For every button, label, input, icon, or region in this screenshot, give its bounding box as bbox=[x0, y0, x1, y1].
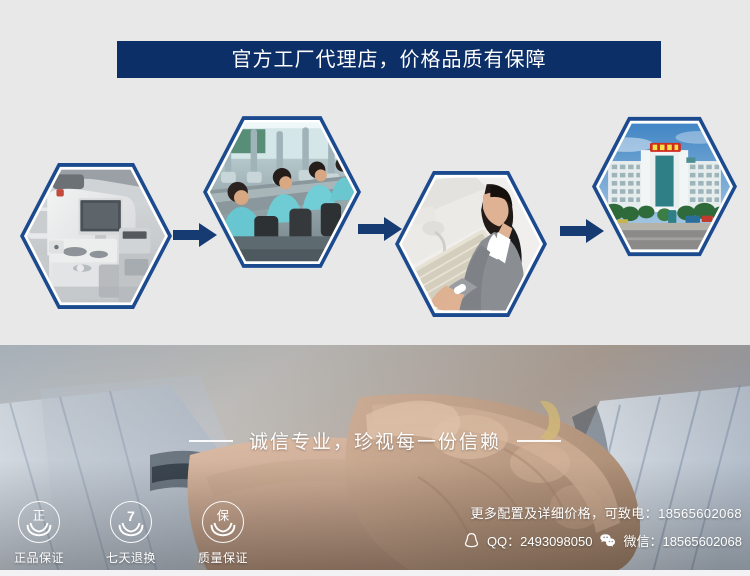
hex-inner-frame bbox=[596, 118, 733, 255]
arrow-right-icon-1 bbox=[173, 222, 217, 248]
tagline-rule-right bbox=[517, 440, 561, 442]
trust-banner-section: 诚信专业，珍视每一份信赖 正 正品保证 7 bbox=[0, 345, 750, 576]
arrow-right-icon-2 bbox=[358, 216, 402, 242]
process-step-2 bbox=[203, 113, 361, 271]
process-section: 官方工厂代理店，价格品质有保障 bbox=[0, 0, 750, 345]
process-step-4 bbox=[592, 114, 737, 259]
process-step-1 bbox=[20, 160, 172, 312]
badge-authentic: 正 正品保证 bbox=[6, 501, 72, 566]
qq-label: QQ：2493098050 bbox=[487, 531, 593, 550]
factory-equipment-photo bbox=[27, 167, 165, 305]
tagline-rule-left bbox=[189, 440, 233, 442]
wechat-icon bbox=[599, 532, 616, 549]
header-title: 官方工厂代理店，价格品质有保障 bbox=[232, 50, 547, 70]
qq-penguin-icon bbox=[463, 532, 480, 549]
trust-badges: 正 正品保证 7 七天退换 bbox=[6, 501, 256, 566]
promo-banner-page: 官方工厂代理店，价格品质有保障 bbox=[0, 0, 750, 576]
badge-quality: 保 质量保证 bbox=[190, 501, 256, 566]
contact-im-line: QQ：2493098050 微信：18565602068 bbox=[463, 531, 742, 550]
badge-label: 七天退换 bbox=[98, 549, 164, 566]
hex-inner-frame bbox=[399, 172, 543, 316]
hex-inner-frame bbox=[24, 164, 168, 308]
customer-service-photo bbox=[402, 175, 540, 313]
hex-inner-frame bbox=[207, 117, 357, 267]
badge-label: 质量保证 bbox=[190, 549, 256, 566]
contact-phone-line: 更多配置及详细价格，可致电：18565602068 bbox=[463, 503, 742, 522]
office-building-photo bbox=[599, 121, 730, 252]
arrow-right-icon-3 bbox=[560, 218, 604, 244]
tagline-row: 诚信专业，珍视每一份信赖 bbox=[0, 427, 750, 454]
production-line-photo bbox=[210, 120, 354, 264]
wechat-label: 微信：18565602068 bbox=[623, 531, 742, 550]
badge-symbol-zheng: 正 bbox=[33, 509, 45, 523]
contact-info: 更多配置及详细价格，可致电：18565602068 QQ：2493098050 bbox=[463, 503, 742, 550]
hands-bao-icon: 保 bbox=[202, 501, 244, 543]
badge-label: 正品保证 bbox=[6, 549, 72, 566]
process-step-3 bbox=[395, 168, 547, 320]
tagline-text: 诚信专业，珍视每一份信赖 bbox=[249, 427, 501, 454]
badge-symbol-seven: 7 bbox=[127, 509, 135, 525]
bottom-strip bbox=[0, 570, 750, 576]
badge-seven-day-return: 7 七天退换 bbox=[98, 501, 164, 566]
header-bar: 官方工厂代理店，价格品质有保障 bbox=[117, 41, 661, 78]
hands-seven-icon: 7 bbox=[110, 501, 152, 543]
badge-symbol-bao: 保 bbox=[217, 509, 230, 523]
hands-zheng-icon: 正 bbox=[18, 501, 60, 543]
